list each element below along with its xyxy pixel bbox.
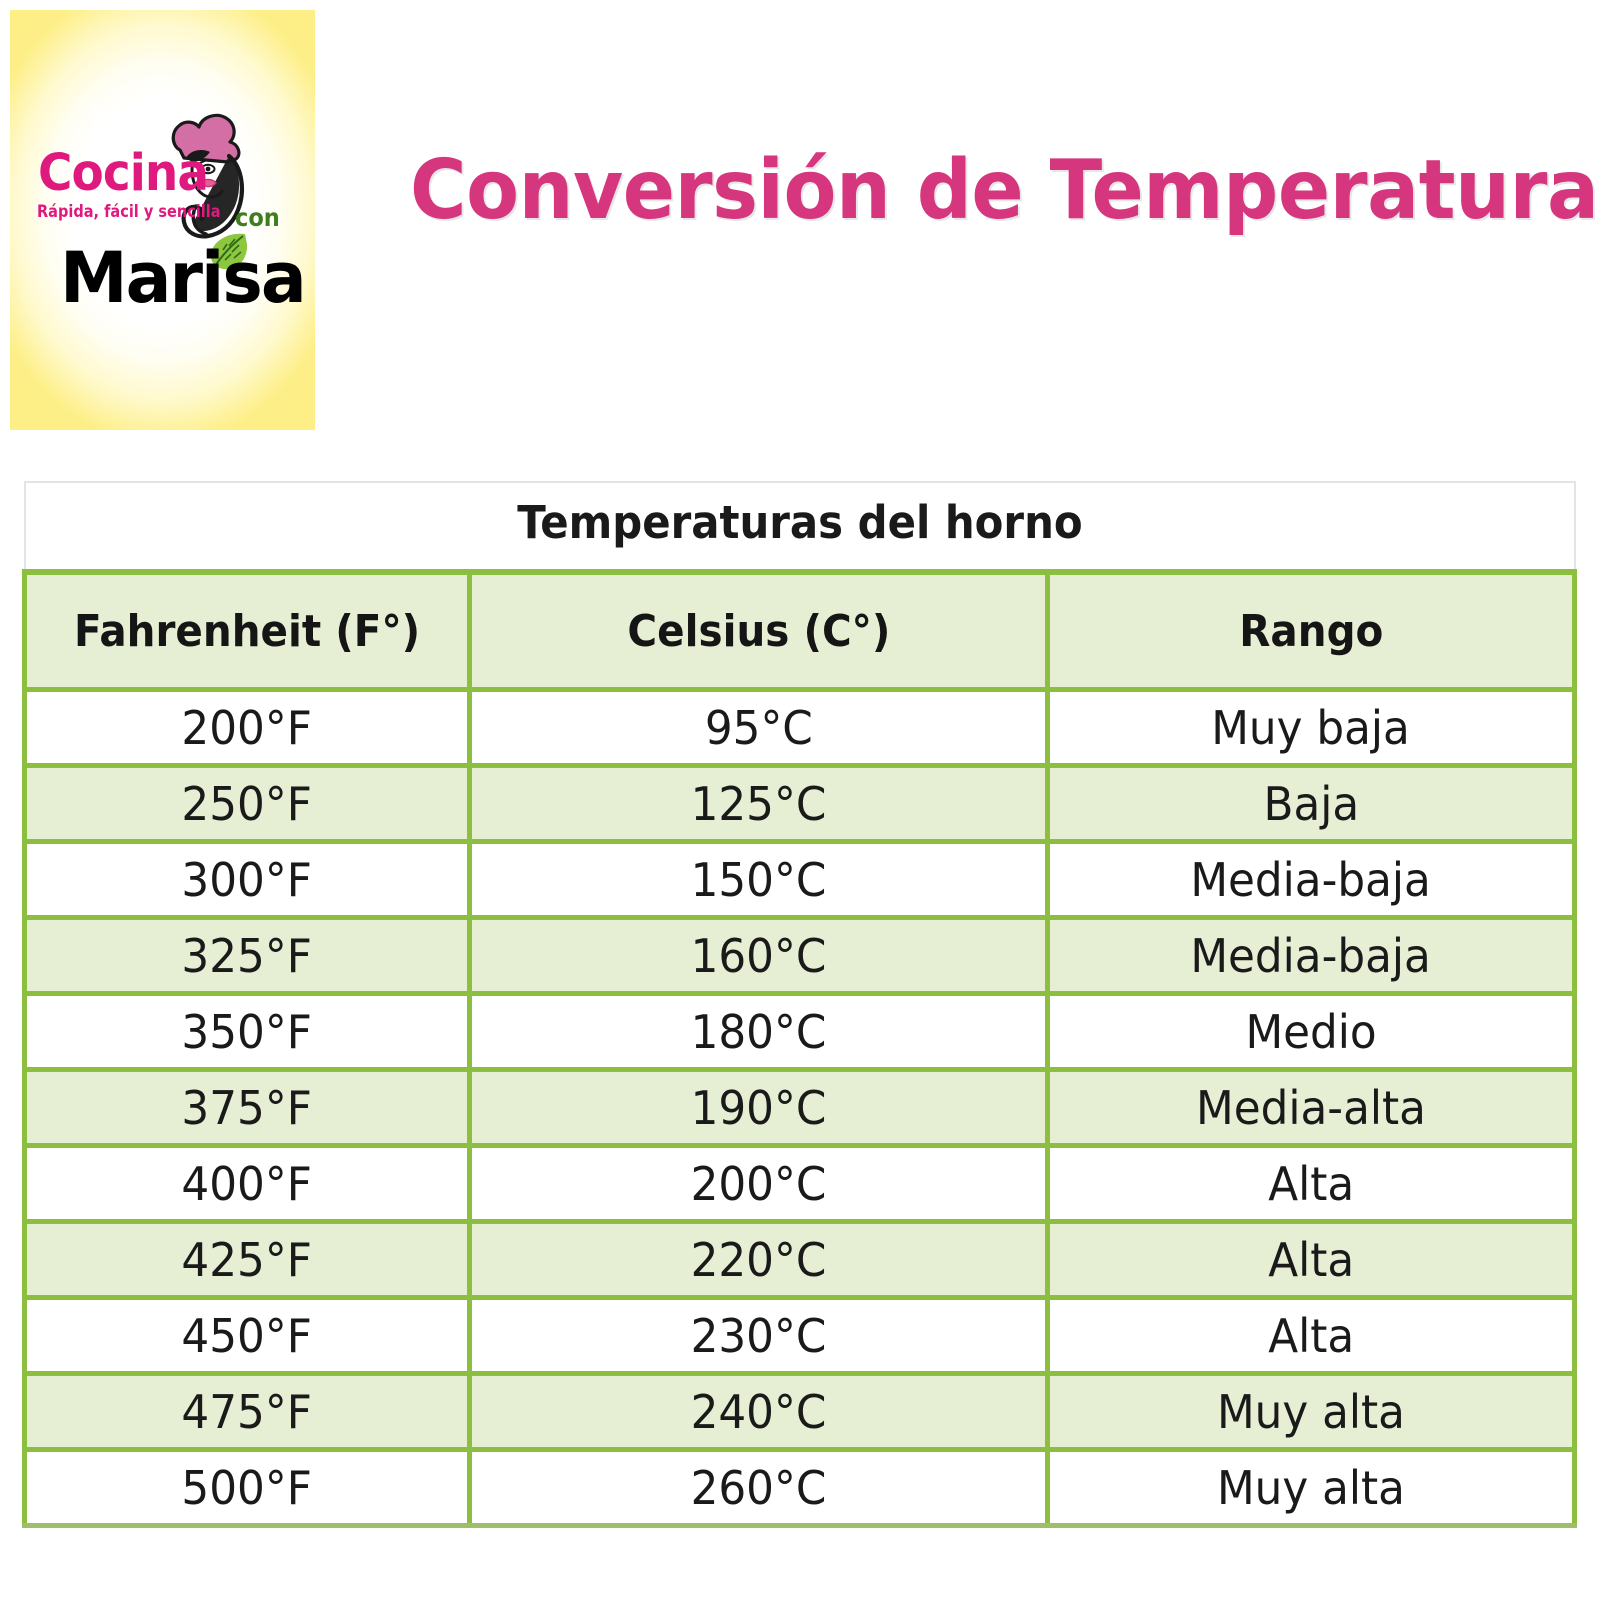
cell-rango: Media-alta bbox=[1048, 1070, 1575, 1146]
logo-cocina-text: Cocina bbox=[38, 144, 208, 203]
cell-fahrenheit-label: 500°F bbox=[182, 1461, 312, 1515]
cell-rango: Muy alta bbox=[1048, 1450, 1575, 1526]
table-row: 400°F200°CAlta bbox=[25, 1146, 1575, 1222]
brand-logo-card: Cocina Rápida, fácil y sencilla con Mari… bbox=[10, 10, 315, 430]
table-row: 475°F240°CMuy alta bbox=[25, 1374, 1575, 1450]
cell-rango-label: Media-baja bbox=[1191, 853, 1431, 907]
table-caption: Temperaturas del horno bbox=[25, 482, 1575, 572]
oven-temperature-table-wrapper: Temperaturas del horno Fahrenheit (F°) C… bbox=[22, 481, 1572, 1528]
cell-celsius-label: 190°C bbox=[691, 1081, 827, 1135]
cell-rango: Muy baja bbox=[1048, 690, 1575, 766]
cell-fahrenheit: 375°F bbox=[25, 1070, 470, 1146]
cell-celsius-label: 160°C bbox=[691, 929, 827, 983]
cell-rango: Alta bbox=[1048, 1298, 1575, 1374]
cell-rango: Alta bbox=[1048, 1146, 1575, 1222]
cell-celsius-label: 125°C bbox=[691, 777, 827, 831]
cell-celsius: 95°C bbox=[470, 690, 1048, 766]
table-header-row: Fahrenheit (F°) Celsius (C°) Rango bbox=[25, 572, 1575, 690]
logo-con-text: con bbox=[235, 203, 280, 232]
cell-fahrenheit: 250°F bbox=[25, 766, 470, 842]
cell-fahrenheit: 475°F bbox=[25, 1374, 470, 1450]
cell-celsius-label: 180°C bbox=[691, 1005, 827, 1059]
cell-fahrenheit-label: 375°F bbox=[182, 1081, 312, 1135]
cell-rango: Media-baja bbox=[1048, 918, 1575, 994]
cell-celsius: 125°C bbox=[470, 766, 1048, 842]
cell-celsius: 240°C bbox=[470, 1374, 1048, 1450]
cell-celsius-label: 200°C bbox=[691, 1157, 827, 1211]
cell-celsius: 260°C bbox=[470, 1450, 1048, 1526]
cell-rango: Alta bbox=[1048, 1222, 1575, 1298]
table-row: 425°F220°CAlta bbox=[25, 1222, 1575, 1298]
cell-celsius-label: 95°C bbox=[705, 701, 813, 755]
cell-rango-label: Muy alta bbox=[1217, 1461, 1405, 1515]
table-row: 375°F190°CMedia-alta bbox=[25, 1070, 1575, 1146]
cell-celsius-label: 230°C bbox=[691, 1309, 827, 1363]
column-header-celsius-label: Celsius (C°) bbox=[627, 606, 890, 657]
cell-rango-label: Media-alta bbox=[1196, 1081, 1426, 1135]
logo-tagline-text: Rápida, fácil y sencilla bbox=[37, 202, 221, 221]
cell-celsius: 150°C bbox=[470, 842, 1048, 918]
table-caption-label: Temperaturas del horno bbox=[517, 496, 1082, 549]
column-header-celsius: Celsius (C°) bbox=[470, 572, 1048, 690]
table-row: 325°F160°CMedia-baja bbox=[25, 918, 1575, 994]
brand-logo: Cocina Rápida, fácil y sencilla con Mari… bbox=[32, 106, 294, 326]
cell-fahrenheit: 300°F bbox=[25, 842, 470, 918]
cell-rango: Baja bbox=[1048, 766, 1575, 842]
cell-fahrenheit: 400°F bbox=[25, 1146, 470, 1222]
cell-celsius-label: 260°C bbox=[691, 1461, 827, 1515]
cell-rango-label: Muy baja bbox=[1212, 701, 1411, 755]
column-header-fahrenheit: Fahrenheit (F°) bbox=[25, 572, 470, 690]
cell-rango: Muy alta bbox=[1048, 1374, 1575, 1450]
cell-celsius: 190°C bbox=[470, 1070, 1048, 1146]
table-row: 200°F95°CMuy baja bbox=[25, 690, 1575, 766]
cell-rango-label: Muy alta bbox=[1217, 1385, 1405, 1439]
cell-fahrenheit-label: 300°F bbox=[182, 853, 312, 907]
cell-rango-label: Alta bbox=[1268, 1157, 1354, 1211]
cell-celsius-label: 240°C bbox=[691, 1385, 827, 1439]
cell-celsius-label: 150°C bbox=[691, 853, 827, 907]
table-row: 300°F150°CMedia-baja bbox=[25, 842, 1575, 918]
table-row: 450°F230°CAlta bbox=[25, 1298, 1575, 1374]
table-caption-row: Temperaturas del horno bbox=[25, 482, 1575, 572]
cell-fahrenheit: 500°F bbox=[25, 1450, 470, 1526]
cell-fahrenheit-label: 250°F bbox=[182, 777, 312, 831]
table-row: 500°F260°CMuy alta bbox=[25, 1450, 1575, 1526]
logo-marisa-text: Marisa bbox=[60, 237, 305, 319]
cell-fahrenheit: 350°F bbox=[25, 994, 470, 1070]
cell-fahrenheit-label: 200°F bbox=[182, 701, 312, 755]
cell-rango-label: Medio bbox=[1245, 1005, 1376, 1059]
cell-celsius-label: 220°C bbox=[691, 1233, 827, 1287]
cell-fahrenheit-label: 450°F bbox=[182, 1309, 312, 1363]
cell-rango: Medio bbox=[1048, 994, 1575, 1070]
oven-temperature-table: Temperaturas del horno Fahrenheit (F°) C… bbox=[22, 481, 1577, 1528]
column-header-rango-label: Rango bbox=[1239, 606, 1383, 657]
cell-celsius: 200°C bbox=[470, 1146, 1048, 1222]
cell-rango-label: Alta bbox=[1268, 1309, 1354, 1363]
cell-celsius: 180°C bbox=[470, 994, 1048, 1070]
cell-fahrenheit: 450°F bbox=[25, 1298, 470, 1374]
table-row: 350°F180°CMedio bbox=[25, 994, 1575, 1070]
table-row: 250°F125°CBaja bbox=[25, 766, 1575, 842]
cell-rango: Media-baja bbox=[1048, 842, 1575, 918]
cell-fahrenheit: 200°F bbox=[25, 690, 470, 766]
cell-celsius: 220°C bbox=[470, 1222, 1048, 1298]
cell-rango-label: Alta bbox=[1268, 1233, 1354, 1287]
column-header-rango: Rango bbox=[1048, 572, 1575, 690]
cell-fahrenheit-label: 400°F bbox=[182, 1157, 312, 1211]
cell-fahrenheit-label: 475°F bbox=[182, 1385, 312, 1439]
cell-rango-label: Media-baja bbox=[1191, 929, 1431, 983]
cell-celsius: 160°C bbox=[470, 918, 1048, 994]
cell-fahrenheit-label: 425°F bbox=[182, 1233, 312, 1287]
cell-fahrenheit: 425°F bbox=[25, 1222, 470, 1298]
cell-celsius: 230°C bbox=[470, 1298, 1048, 1374]
cell-rango-label: Baja bbox=[1263, 777, 1359, 831]
page-title: Conversión de Temperaturas bbox=[410, 143, 1406, 239]
cell-fahrenheit-label: 325°F bbox=[182, 929, 312, 983]
cell-fahrenheit-label: 350°F bbox=[182, 1005, 312, 1059]
column-header-fahrenheit-label: Fahrenheit (F°) bbox=[74, 606, 420, 657]
cell-fahrenheit: 325°F bbox=[25, 918, 470, 994]
